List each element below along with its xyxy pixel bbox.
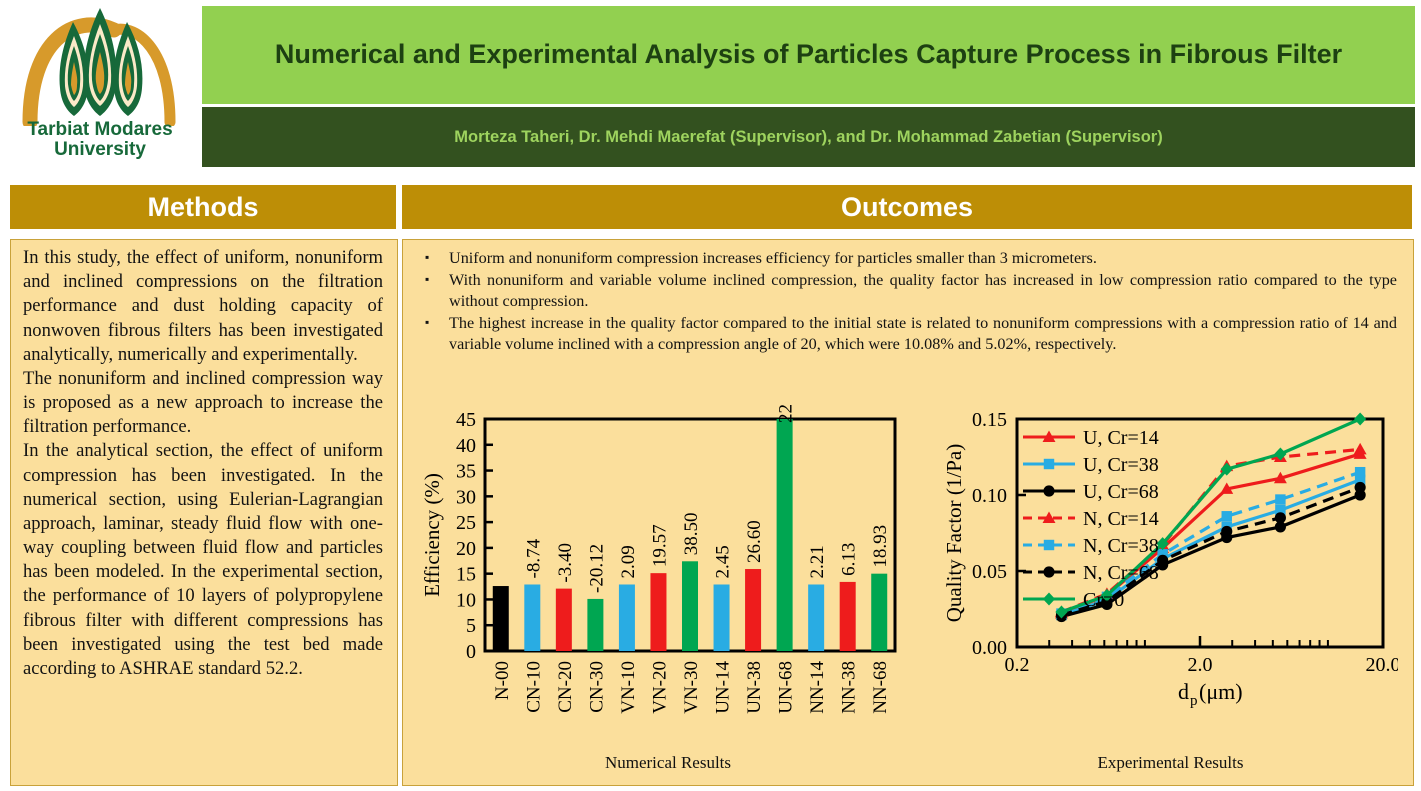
- x-category-label: UN-38: [744, 661, 765, 714]
- methods-panel: In this study, the effect of uniform, no…: [10, 239, 398, 786]
- y-axis-label: Quality Factor (1/Pa): [943, 444, 966, 622]
- list-item: ▪ Uniform and nonuniform compression inc…: [417, 248, 1397, 269]
- logo-mark: [18, 6, 183, 126]
- bullet-text: With nonuniform and variable volume incl…: [449, 270, 1397, 312]
- svg-text:p: p: [1190, 693, 1198, 709]
- legend-label: N, Cr=14: [1083, 508, 1159, 530]
- line-chart-caption: Experimental Results: [943, 753, 1398, 773]
- bar-value-label: 2.45: [713, 545, 734, 578]
- bar-chart-numerical-results: 051015202530354045Efficiency (%)N-00-8.7…: [423, 405, 913, 775]
- legend-marker: [1043, 485, 1054, 496]
- x-category-label: CN-20: [555, 661, 576, 713]
- bar-value-label: 227.31: [776, 405, 797, 423]
- bar-chart-caption: Numerical Results: [423, 753, 913, 773]
- x-tick-label: 20.0: [1366, 654, 1399, 676]
- bar: [493, 586, 509, 651]
- logo-wordmark: Tarbiat Modares University: [0, 120, 200, 160]
- bar-value-label: 6.13: [839, 543, 860, 576]
- section-header-outcomes: Outcomes: [402, 185, 1412, 229]
- poster-title-bar: Numerical and Experimental Analysis of P…: [202, 6, 1415, 104]
- y-tick-label: 40: [456, 435, 476, 457]
- bar: [871, 574, 887, 651]
- y-tick-label: 20: [456, 538, 476, 560]
- x-category-label: NN-38: [839, 661, 860, 714]
- legend-label: U, Cr=38: [1083, 454, 1159, 476]
- bar-value-label: 2.09: [618, 545, 639, 578]
- poster-title: Numerical and Experimental Analysis of P…: [249, 39, 1369, 71]
- methods-paragraph: In the analytical section, the effect of…: [23, 439, 383, 681]
- bar: [808, 584, 824, 651]
- x-category-label: VN-20: [649, 661, 670, 714]
- bar: [619, 584, 635, 651]
- bar: [587, 599, 603, 651]
- outcomes-heading-label: Outcomes: [841, 192, 973, 223]
- bar: [745, 569, 761, 651]
- poster-author-bar: Morteza Taheri, Dr. Mehdi Maerefat (Supe…: [202, 107, 1415, 167]
- x-category-label: CN-10: [523, 661, 544, 713]
- bar: [714, 584, 730, 651]
- x-category-label: NN-68: [870, 661, 891, 714]
- legend-label: N, Cr=68: [1083, 562, 1159, 584]
- y-tick-label: 15: [456, 564, 476, 586]
- bar-value-label: -20.12: [586, 544, 607, 593]
- x-category-label: VN-10: [618, 661, 639, 714]
- x-category-label: UN-68: [776, 661, 797, 714]
- methods-paragraph: In this study, the effect of uniform, no…: [23, 246, 383, 367]
- section-header-methods: Methods: [10, 185, 396, 229]
- logo-line-2: University: [0, 140, 200, 160]
- y-tick-label: 10: [456, 589, 476, 611]
- bar: [682, 561, 698, 651]
- y-tick-label: 0.10: [972, 485, 1007, 507]
- methods-heading-label: Methods: [148, 192, 259, 223]
- legend-marker: [1043, 566, 1054, 577]
- line-chart-svg: 0.000.050.100.15Quality Factor (1/Pa)0.2…: [943, 405, 1398, 750]
- bar: [840, 582, 856, 651]
- outcomes-bullet-list: ▪ Uniform and nonuniform compression inc…: [417, 248, 1397, 356]
- y-tick-label: 0.05: [972, 561, 1007, 583]
- bar-value-label: -8.74: [523, 538, 544, 578]
- chart-legend: U, Cr=14U, Cr=38U, Cr=68N, Cr=14N, Cr=38…: [1023, 427, 1159, 611]
- legend-label: Cr=0: [1083, 589, 1124, 611]
- bar: [524, 584, 540, 651]
- y-tick-label: 35: [456, 461, 476, 483]
- list-item: ▪ The highest increase in the quality fa…: [417, 313, 1397, 355]
- bar-value-label: -3.40: [555, 543, 576, 583]
- data-point: [1354, 443, 1367, 454]
- bar-value-label: 26.60: [744, 520, 765, 563]
- data-point: [1275, 494, 1285, 504]
- bar-value-label: 18.93: [870, 525, 891, 568]
- x-category-label: CN-30: [586, 661, 607, 713]
- y-tick-label: 0.15: [972, 409, 1007, 431]
- data-point: [1275, 512, 1286, 523]
- legend-marker: [1044, 459, 1054, 469]
- y-tick-label: 0: [466, 641, 476, 663]
- y-tick-label: 0.00: [972, 637, 1007, 659]
- y-tick-label: 5: [466, 615, 476, 637]
- bullet-square-icon: ▪: [417, 270, 449, 312]
- x-tick-label: 2.0: [1188, 654, 1213, 676]
- y-tick-label: 25: [456, 512, 476, 534]
- legend-label: U, Cr=68: [1083, 481, 1159, 503]
- bullet-square-icon: ▪: [417, 313, 449, 355]
- bar: [650, 573, 666, 651]
- x-category-label: VN-30: [681, 661, 702, 714]
- data-point: [1354, 413, 1366, 426]
- x-tick-label: 0.2: [1005, 654, 1030, 676]
- bar-value-label: 19.57: [649, 524, 670, 567]
- poster-authors: Morteza Taheri, Dr. Mehdi Maerefat (Supe…: [454, 128, 1162, 147]
- svg-text:(μm): (μm): [1199, 679, 1243, 704]
- bar-value-label: 38.50: [681, 513, 702, 556]
- legend-marker: [1044, 540, 1054, 550]
- x-category-label: UN-14: [713, 661, 734, 714]
- data-point: [1355, 482, 1366, 493]
- data-point: [1221, 526, 1232, 537]
- data-point: [1355, 467, 1365, 477]
- data-point: [1222, 511, 1232, 521]
- bullet-text: The highest increase in the quality fact…: [449, 313, 1397, 355]
- y-tick-label: 30: [456, 486, 476, 508]
- line-chart-experimental-results: 0.000.050.100.15Quality Factor (1/Pa)0.2…: [943, 405, 1398, 775]
- bar-chart-svg: 051015202530354045Efficiency (%)N-00-8.7…: [423, 405, 913, 750]
- legend-label: N, Cr=38: [1083, 535, 1159, 557]
- logo-line-1: Tarbiat Modares: [0, 120, 200, 140]
- university-logo: Tarbiat Modares University: [0, 0, 200, 172]
- bullet-text: Uniform and nonuniform compression incre…: [449, 248, 1397, 269]
- list-item: ▪ With nonuniform and variable volume in…: [417, 270, 1397, 312]
- bar-value-label: 2.21: [807, 545, 828, 578]
- outcomes-panel: ▪ Uniform and nonuniform compression inc…: [402, 239, 1414, 786]
- poster-root: Tarbiat Modares University Numerical and…: [0, 0, 1421, 791]
- svg-text:d: d: [1178, 679, 1189, 704]
- legend-label: U, Cr=14: [1083, 427, 1159, 449]
- legend-marker: [1043, 593, 1055, 606]
- x-category-label: NN-14: [807, 661, 828, 714]
- bar: [777, 419, 793, 651]
- x-category-label: N-00: [492, 661, 513, 700]
- methods-paragraph: The nonuniform and inclined compression …: [23, 367, 383, 440]
- y-tick-label: 45: [456, 409, 476, 431]
- bullet-square-icon: ▪: [417, 248, 449, 269]
- data-point: [1157, 555, 1168, 566]
- x-axis-label: dp(μm): [1178, 679, 1243, 709]
- y-axis-label: Efficiency (%): [423, 473, 444, 597]
- bar: [556, 589, 572, 651]
- methods-body: In this study, the effect of uniform, no…: [23, 246, 383, 681]
